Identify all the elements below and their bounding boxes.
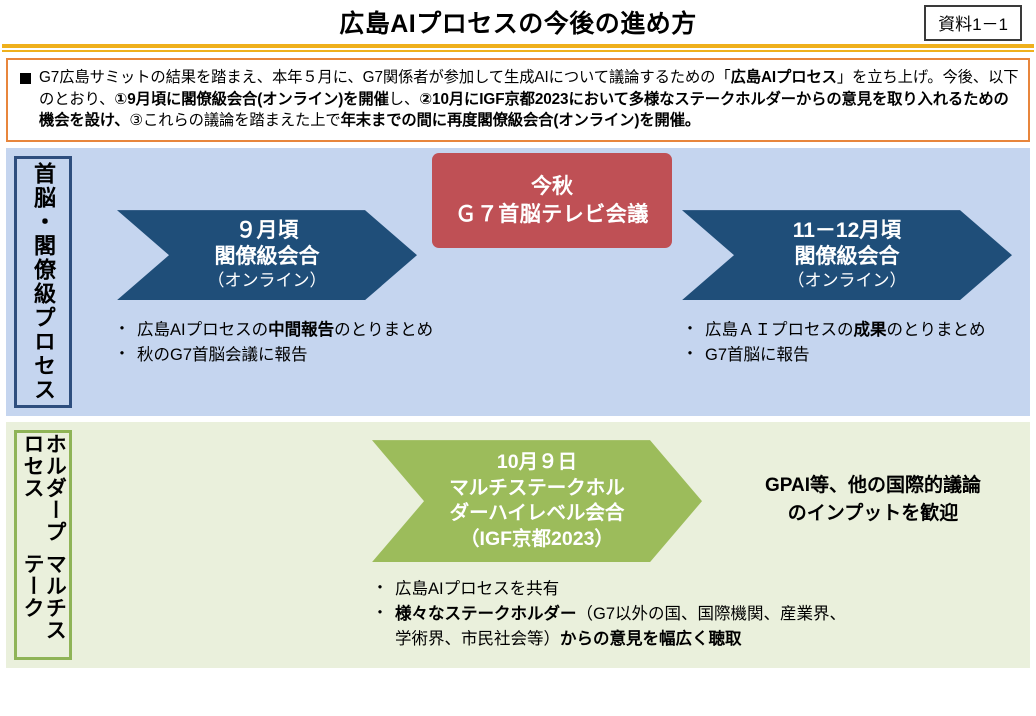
slide-header: 広島AIプロセスの今後の進め方 資料1－1	[0, 0, 1036, 44]
redbox-line2: Ｇ７首脳テレビ会議	[455, 201, 649, 228]
multistakeholder-bullet-list: ・ 広島AIプロセスを共有 ・ 様々なステークホルダー（G7以外の国、国際機関、…	[372, 577, 846, 651]
leaders-process-body: ９月頃 閣僚級会合 （オンライン） 今秋 Ｇ７首脳テレビ会議 11－12月頃 閣…	[72, 148, 1030, 416]
summary-line2-plain-b: し、	[389, 91, 419, 108]
bullet-text-plain-a: 広島AIプロセスの	[137, 321, 268, 339]
list-item: ・ 広島AIプロセスを共有	[372, 577, 846, 602]
summary-line4-bold: 年末までの間に再度閣僚級会合(オンライン)を開催。	[341, 112, 701, 129]
multistakeholder-process-section: ホルダープロセス マルチステーク 10月９日 マルチステークホル ダーハイレベル…	[6, 422, 1030, 668]
arrow-igf-kyoto-highlevel-meeting[interactable]: 10月９日 マルチステークホル ダーハイレベル会合 （IGF京都2023）	[372, 440, 702, 562]
summary-line2-bold-a: 島AIプロセス	[746, 69, 837, 86]
arrow-igf-line3: ダーハイレベル会合	[450, 501, 625, 526]
sidebar-label-multistakeholder: ホルダープロセス マルチステーク	[14, 430, 72, 660]
summary-box: G7広島サミットの結果を踏まえ、本年５月に、G7関係者が参加して生成AIについて…	[6, 58, 1030, 142]
redbox-line1: 今秋	[531, 173, 573, 200]
bullet-text-plain-b: （G7以外の国、国際機関、産業界、	[577, 605, 847, 623]
arrow-september-line3: （オンライン）	[208, 270, 327, 292]
box-g7-leaders-video-conference[interactable]: 今秋 Ｇ７首脳テレビ会議	[432, 153, 672, 248]
summary-line1-plain: G7広島サミットの結果を踏まえ、本年５月に、G7関係者が参加して生成AIについて…	[39, 69, 731, 86]
arrow-igf-line4: （IGF京都2023）	[460, 527, 614, 552]
bullet-dot-icon: ・	[372, 602, 388, 626]
arrow-igf-line2: マルチステークホル	[449, 476, 625, 501]
arrow-nov-dec-line2: 閣僚級会合	[795, 244, 900, 270]
bullet-text-plain-a: G7首脳に報告	[705, 346, 810, 364]
leaders-right-bullet-list: ・ 広島ＡＩプロセスの成果のとりまとめ ・ G7首脳に報告	[682, 318, 986, 368]
gpai-side-note: GPAI等、他の国際的議論 のインプットを歓迎	[708, 472, 1036, 527]
document-number-label: 資料1－1	[924, 5, 1022, 41]
arrow-nov-dec-line3: （オンライン）	[788, 270, 907, 292]
bullet-text-plain-b: のとりまとめ	[334, 321, 433, 339]
multistakeholder-process-body: 10月９日 マルチステークホル ダーハイレベル会合 （IGF京都2023） GP…	[72, 422, 1030, 668]
bullet-text: 秋のG7首脳会議に報告	[137, 343, 308, 368]
square-bullet-icon	[20, 73, 31, 84]
slide-root: 広島AIプロセスの今後の進め方 資料1－1 G7広島サミットの結果を踏まえ、本年…	[0, 0, 1036, 716]
list-item: 学術界、市民社会等）からの意見を幅広く聴取	[372, 627, 846, 652]
arrow-igf-line1: 10月９日	[497, 450, 577, 475]
leaders-process-section: 首脳・閣僚級プロセス ９月頃 閣僚級会合 （オンライン） 今秋 Ｇ７首脳テレビ会…	[6, 148, 1030, 416]
bullet-text-plain-b: のとりまとめ	[887, 321, 986, 339]
bullet-text: 様々なステークホルダー（G7以外の国、国際機関、産業界、	[395, 602, 846, 627]
bullet-text-plain-a: 秋のG7首脳会議に報告	[137, 346, 308, 364]
summary-line2-bold-c: ②10月に	[419, 91, 479, 108]
bullet-text-bold: からの意見を幅広く聴取	[560, 630, 742, 648]
gpai-note-line1: GPAI等、他の国際的議論	[708, 472, 1036, 500]
bullet-text-bold: 中間報告	[268, 321, 334, 339]
bullet-text: 広島ＡＩプロセスの成果のとりまとめ	[705, 318, 986, 343]
bullet-text: 広島AIプロセスの中間報告のとりまとめ	[137, 318, 433, 343]
summary-line3-plain: ③これらの議論を	[129, 112, 249, 129]
bullet-text-plain-a: 学術界、市民社会等）	[395, 630, 560, 648]
bullet-dot-icon: ・	[114, 343, 130, 367]
sidebar-label-col1: マルチステーク	[21, 553, 66, 658]
bullet-text-bold: 様々なステークホルダー	[395, 605, 577, 623]
leaders-left-bullet-list: ・ 広島AIプロセスの中間報告のとりまとめ ・ 秋のG7首脳会議に報告	[114, 318, 433, 368]
summary-line4-plain: 踏まえた上で	[249, 112, 340, 129]
arrow-nov-dec-line1: 11－12月頃	[793, 218, 902, 244]
bullet-dot-icon: ・	[114, 318, 130, 342]
bullet-dot-icon: ・	[682, 343, 698, 367]
page-title: 広島AIプロセスの今後の進め方	[339, 4, 697, 40]
sidebar-label-leaders: 首脳・閣僚級プロセス	[14, 156, 72, 408]
list-item: ・ 秋のG7首脳会議に報告	[114, 343, 433, 368]
arrow-september-line1: ９月頃	[236, 218, 299, 244]
divider-thin-line	[2, 50, 1034, 52]
arrow-september-line2: 閣僚級会合	[215, 244, 320, 270]
arrow-september-ministerial[interactable]: ９月頃 閣僚級会合 （オンライン）	[117, 210, 417, 300]
gpai-note-line2: のインプットを歓迎	[708, 500, 1036, 528]
summary-line2-bold-b: ①9月頃に閣僚級会合(オンライン)を開催	[114, 91, 388, 108]
bullet-text: 広島AIプロセスを共有	[395, 577, 559, 602]
list-item: ・ 広島AIプロセスの中間報告のとりまとめ	[114, 318, 433, 343]
bullet-text-plain-a: 広島ＡＩプロセスの	[705, 321, 854, 339]
summary-text: G7広島サミットの結果を踏まえ、本年５月に、G7関係者が参加して生成AIについて…	[39, 67, 1020, 132]
sidebar-label-col2: ホルダープロセス	[21, 433, 66, 552]
bullet-text: 学術界、市民社会等）からの意見を幅広く聴取	[395, 627, 742, 652]
bullet-dot-icon: ・	[372, 577, 388, 601]
summary-line1-bold: 広	[731, 69, 746, 86]
header-divider	[0, 44, 1036, 52]
list-item: ・ 様々なステークホルダー（G7以外の国、国際機関、産業界、	[372, 602, 846, 627]
bullet-text-bold: 成果	[854, 321, 887, 339]
arrow-november-december-ministerial[interactable]: 11－12月頃 閣僚級会合 （オンライン）	[682, 210, 1012, 300]
bullet-text: G7首脳に報告	[705, 343, 810, 368]
list-item: ・ G7首脳に報告	[682, 343, 986, 368]
list-item: ・ 広島ＡＩプロセスの成果のとりまとめ	[682, 318, 986, 343]
bullet-text-plain-a: 広島AIプロセスを共有	[395, 580, 559, 598]
bullet-dot-icon: ・	[682, 318, 698, 342]
